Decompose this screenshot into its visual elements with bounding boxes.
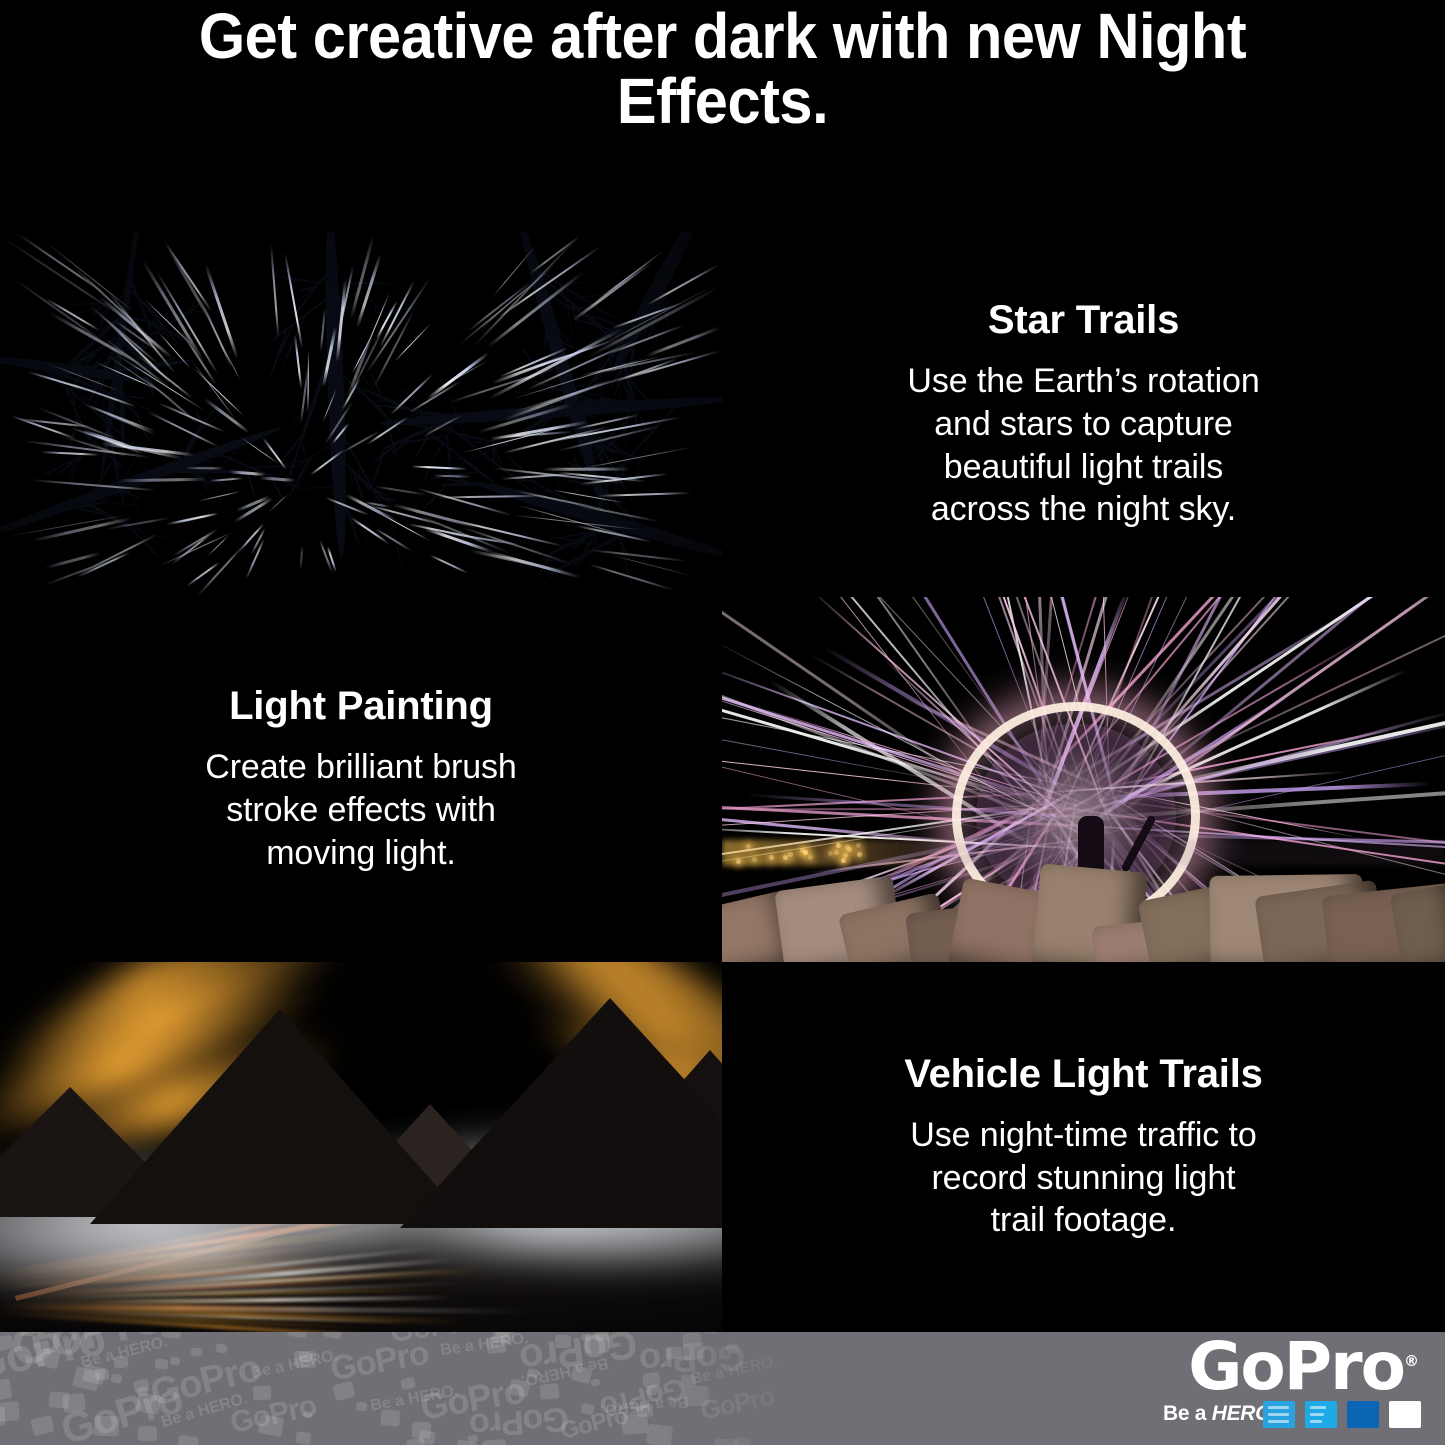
light-painting-description: Create brilliant brush stroke effects wi… [205, 746, 517, 874]
logo-square-bar [1310, 1420, 1322, 1423]
watermark-square [509, 1379, 530, 1397]
watermark-square [303, 1410, 312, 1418]
registered-mark-icon: ® [1404, 1352, 1419, 1370]
star-trails-photo [0, 232, 722, 597]
watermark-square [170, 1357, 180, 1365]
watermark-square [591, 1379, 601, 1388]
tagline-prefix: Be a [1163, 1402, 1212, 1425]
watermark-square [486, 1336, 507, 1353]
watermark-square [114, 1356, 129, 1369]
watermark-gopro: GoPro [469, 1399, 570, 1445]
watermark-square [570, 1365, 593, 1385]
logo-square-1 [1263, 1401, 1295, 1428]
watermark-square [0, 1401, 19, 1422]
watermark-square [380, 1409, 401, 1426]
page-title: Get creative after dark with new Night E… [51, 4, 1395, 135]
light-painting-title: Light Painting [229, 684, 493, 728]
vehicle-light-trails-photo [0, 962, 722, 1332]
gopro-logo: GoPro® Be a HERO. [1133, 1340, 1423, 1440]
watermark-square [215, 1343, 228, 1354]
star-trails-description: Use the Earth’s rotation and stars to ca… [907, 360, 1259, 531]
watermark-square [62, 1393, 86, 1414]
vignette-overlay [0, 232, 722, 597]
watermark-square [323, 1332, 344, 1340]
watermark-square [555, 1335, 571, 1348]
logo-square-4 [1389, 1401, 1421, 1428]
watermark-square [356, 1402, 368, 1412]
light-painting-text: Light Painting Create brilliant brush st… [0, 597, 722, 962]
gopro-wordmark-text: GoPro [1188, 1332, 1404, 1405]
watermark-square [296, 1431, 312, 1445]
watermark-square [287, 1332, 308, 1339]
watermark-square [400, 1376, 416, 1390]
light-painting-photo [722, 597, 1445, 962]
brand-footer: GoProGoProGoProGoProGoProGoProGoProGoPro… [0, 1332, 1445, 1445]
logo-square-3 [1347, 1401, 1379, 1428]
logo-square-bar [1268, 1406, 1289, 1409]
watermark-square [135, 1393, 161, 1415]
logo-square-bar [1268, 1413, 1289, 1416]
watermark-square [94, 1415, 119, 1435]
watermark-square [155, 1358, 169, 1370]
logo-square-bar [1310, 1406, 1326, 1409]
logo-square-2 [1305, 1401, 1337, 1428]
vehicle-light-trails-description: Use night-time traffic to record stunnin… [910, 1114, 1256, 1242]
vehicle-light-trails-text: Vehicle Light Trails Use night-time traf… [722, 962, 1445, 1332]
poster-root: Get creative after dark with new Night E… [0, 0, 1445, 1445]
watermark-square [253, 1385, 271, 1400]
watermark-square [467, 1434, 479, 1444]
watermark-square [137, 1426, 156, 1442]
watermark-square [418, 1430, 436, 1445]
watermark-square [95, 1369, 110, 1381]
watermark-square [191, 1348, 202, 1357]
feature-grid: Star Trails Use the Earth’s rotation and… [0, 232, 1445, 1332]
watermark-square [539, 1384, 560, 1401]
rock-breakwater [722, 852, 1445, 962]
watermark-square [294, 1351, 316, 1369]
watermark-square [30, 1415, 55, 1437]
watermark-square [332, 1381, 355, 1401]
watermark-square [177, 1435, 199, 1445]
watermark-square [110, 1373, 122, 1383]
star-trails-title: Star Trails [988, 298, 1179, 342]
watermark-square [20, 1332, 35, 1335]
star-trails-text: Star Trails Use the Earth’s rotation and… [722, 232, 1445, 597]
logo-square-bar [1310, 1413, 1324, 1416]
vehicle-light-trails-title: Vehicle Light Trails [904, 1052, 1262, 1096]
logo-square-bar [1268, 1420, 1289, 1423]
gopro-tagline: Be a HERO. [1163, 1402, 1277, 1426]
gopro-wordmark: GoPro® [1188, 1334, 1419, 1400]
